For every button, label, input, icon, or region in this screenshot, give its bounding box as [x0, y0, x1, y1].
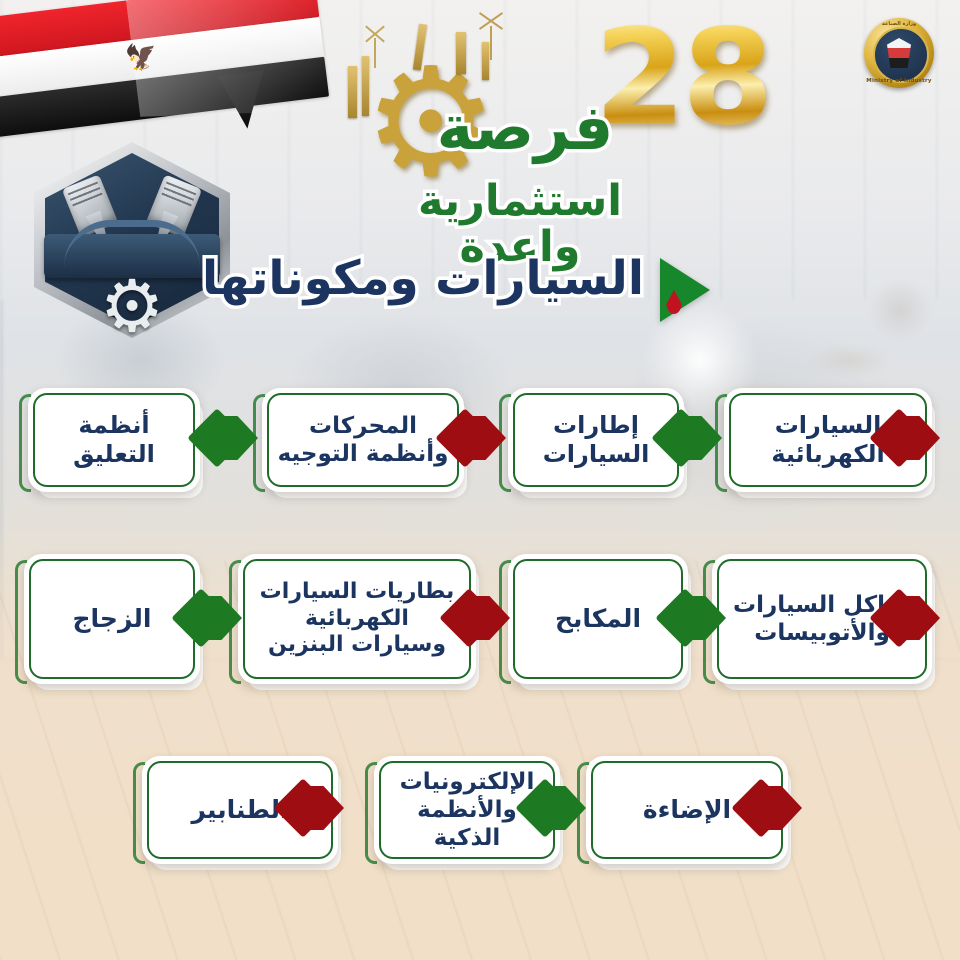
wind-turbine-icon	[374, 38, 376, 68]
flow-arrow-green-icon	[524, 782, 586, 836]
factory-building-icon	[456, 32, 466, 74]
piston-rings	[68, 181, 104, 208]
wind-turbine-icon	[490, 26, 492, 60]
opportunity-box[interactable]: أنظمة التعليق	[28, 388, 200, 492]
flow-arrow-green-icon	[664, 592, 726, 646]
seal-arabic-text: وزارة الصناعة	[864, 21, 934, 27]
green-triangle-marker-icon	[660, 258, 710, 322]
flow-arrow-red-icon	[878, 592, 940, 646]
ministry-seal-icon: وزارة الصناعة Ministry of Industry	[864, 18, 934, 88]
piston-rings	[161, 181, 197, 208]
badge-gear-icon: ⚙	[96, 270, 168, 342]
page-title: السيارات ومكوناتها	[188, 250, 658, 308]
poster-canvas: 🦅 ⚙ ⚙ 28 وزارة الصناعة Ministry of Indus…	[0, 0, 960, 960]
flow-arrow-red-icon	[282, 782, 344, 836]
opportunity-label: المحركات وأنظمة التوجيه	[262, 388, 464, 492]
flow-arrow-red-icon	[444, 412, 506, 466]
flag-eagle-emblem-icon: 🦅	[123, 39, 161, 77]
seal-english-text: Ministry of Industry	[864, 78, 934, 84]
opportunity-box[interactable]: المحركات وأنظمة التوجيه	[262, 388, 464, 492]
flow-arrow-green-icon	[660, 412, 722, 466]
opportunity-label: أنظمة التعليق	[28, 388, 200, 492]
flow-arrow-green-icon	[180, 592, 242, 646]
headline-opportunity: فرصة	[430, 96, 620, 160]
factory-chimney-icon	[362, 56, 369, 116]
flow-arrow-red-icon	[740, 782, 802, 836]
automotive-badge-logo: ⚙	[34, 142, 230, 338]
factory-chimney-icon	[348, 66, 357, 118]
flow-arrow-green-icon	[196, 412, 258, 466]
flow-arrow-red-icon	[878, 412, 940, 466]
flow-arrow-red-icon	[448, 592, 510, 646]
factory-building-icon	[482, 42, 489, 80]
